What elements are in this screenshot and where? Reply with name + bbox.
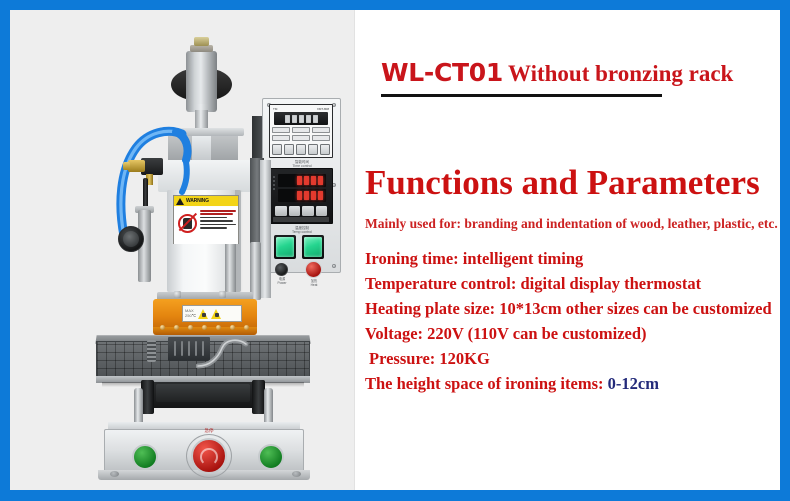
model-code: WL-CT01 [381, 58, 503, 87]
timer-button[interactable] [320, 144, 330, 155]
timer-button[interactable] [272, 144, 282, 155]
intro-text: Mainly used for: branding and indentatio… [365, 216, 778, 232]
thermostat-caption: 温度控制Temp control [276, 226, 328, 235]
segment-digit [297, 191, 302, 200]
segment-digit [304, 191, 309, 200]
warning-text-line [200, 217, 227, 219]
pressure-gauge-face [123, 231, 139, 247]
timer-brand-strip: TM XMT-808 [271, 106, 331, 111]
thermostat-button-row[interactable] [275, 206, 327, 216]
spec-item-height-space: The height space of ironing items: 0-12c… [365, 371, 780, 396]
segment-digit [318, 191, 323, 200]
spring-guide [147, 340, 156, 362]
thermostat-button[interactable] [302, 206, 314, 216]
segment-digit [292, 115, 297, 123]
support-column-light [260, 160, 271, 298]
segment-digit [306, 115, 311, 123]
die-rib [181, 341, 183, 356]
hot-surface-icon [198, 309, 209, 319]
spec-text-panel: WL-CT01Without bronzing rack Functions a… [355, 10, 780, 490]
hex-bolt-icon [219, 291, 226, 298]
die-rib [174, 341, 176, 356]
segment-digit [313, 115, 318, 123]
timer-display [274, 112, 328, 125]
spec-item-voltage: Voltage: 220V (110V can be customized) [365, 321, 780, 346]
warning-text-line [200, 213, 233, 215]
segment-digit [304, 176, 309, 185]
warning-text-line [200, 224, 236, 226]
timer-brand-left: TM [273, 107, 277, 111]
warning-text-line [200, 227, 227, 229]
rocker-lens [304, 237, 322, 257]
timer-brand-right: XMT-808 [317, 107, 329, 111]
height-space-label: The height space of ironing items: [365, 374, 604, 393]
warning-text-lines [200, 207, 238, 244]
head-bolt [174, 325, 179, 330]
timer-label-row [272, 127, 330, 133]
table-bracket-inner [156, 384, 250, 402]
electric-shock-icon [211, 309, 222, 319]
cylinder-brass-fitting [194, 37, 209, 46]
segment-digit [297, 176, 302, 185]
green-start-button-left[interactable] [132, 444, 158, 470]
timer-label-cell [312, 135, 330, 141]
thermostat-footer-strip [273, 217, 329, 222]
head-bolt [230, 325, 235, 330]
thermostat-button[interactable] [289, 206, 301, 216]
head-bolt [244, 325, 249, 330]
panel-red-button-caption: 加热Heat [302, 280, 326, 287]
cylinder-body [186, 51, 217, 104]
timer-button[interactable] [284, 144, 294, 155]
page-title: Functions and Parameters [365, 163, 760, 203]
green-start-button-right[interactable] [258, 444, 284, 470]
hex-bolt-icon [174, 291, 181, 298]
thermostat-display-pv [278, 174, 326, 187]
timer-label-cell [272, 127, 290, 133]
green-rocker-switch-left[interactable] [274, 235, 296, 259]
thermostat-button[interactable] [316, 206, 328, 216]
segment-digit [285, 115, 290, 123]
green-rocker-switch-right[interactable] [302, 235, 324, 259]
hot-surface-caption: MAX250℃ [185, 309, 196, 318]
brass-valve-knob [123, 162, 130, 170]
base-foot [110, 471, 119, 477]
head-bolt [160, 325, 165, 330]
machine-illustration: TM XMT-808 [10, 10, 355, 490]
head-bolt [188, 325, 193, 330]
panel-black-button-caption: 电源Power [271, 278, 293, 285]
spec-item-heating-plate-size: Heating plate size: 10*13cm other sizes … [365, 296, 780, 321]
timer-caption: 智能时间Time control [278, 160, 326, 168]
cylinder-collar [190, 45, 213, 52]
outer-blue-frame: TM XMT-808 [0, 0, 790, 501]
model-description: Without bronzing rack [508, 61, 733, 86]
model-heading: WL-CT01Without bronzing rack [381, 58, 733, 87]
led-dot [273, 184, 275, 186]
brass-valve [128, 160, 145, 172]
panel-red-button[interactable] [305, 261, 322, 278]
timer-button-row[interactable] [272, 144, 330, 155]
timer-button[interactable] [296, 144, 306, 155]
panel-black-button[interactable] [275, 263, 288, 276]
timer-label-cell [312, 127, 330, 133]
head-bolt [216, 325, 221, 330]
product-photo-panel: TM XMT-808 [10, 10, 355, 490]
spec-item-temperature-control: Temperature control: digital display the… [365, 271, 780, 296]
base-foot [292, 471, 301, 477]
led-dot [273, 180, 275, 182]
guide-cylinder-left [225, 238, 236, 300]
timer-label-rows [272, 127, 330, 143]
segment-digit [311, 176, 316, 185]
emergency-stop-arrow-ring [200, 448, 218, 466]
die-rib [188, 341, 190, 356]
segment-digit [318, 176, 323, 185]
thermostat-display-sv [278, 189, 326, 202]
thermostat-button[interactable] [275, 206, 287, 216]
height-space-value: 0-12cm [608, 374, 659, 393]
content-canvas: TM XMT-808 [10, 10, 780, 490]
warning-text-line [200, 220, 233, 222]
head-bolt [202, 325, 207, 330]
spec-item-pressure: Pressure: 120KG [365, 346, 780, 371]
spec-item-ironing-time: Ironing time: intelligent timing [365, 246, 780, 271]
thermostat-indicator-leds [272, 174, 277, 202]
timer-label-cell [292, 135, 310, 141]
timer-button[interactable] [308, 144, 318, 155]
segment-digit [311, 191, 316, 200]
warning-text-line [200, 210, 236, 212]
timer-label-cell [292, 127, 310, 133]
led-dot [273, 176, 275, 178]
led-dot [273, 188, 275, 190]
model-underline [381, 94, 662, 97]
spec-list: Ironing time: intelligent timing Tempera… [365, 246, 780, 396]
rocker-lens [276, 237, 294, 257]
segment-digit [299, 115, 304, 123]
heating-head-warning-label: MAX250℃ [182, 305, 242, 322]
timer-label-row [272, 135, 330, 141]
timer-label-cell [272, 135, 290, 141]
screw-icon [332, 264, 336, 268]
